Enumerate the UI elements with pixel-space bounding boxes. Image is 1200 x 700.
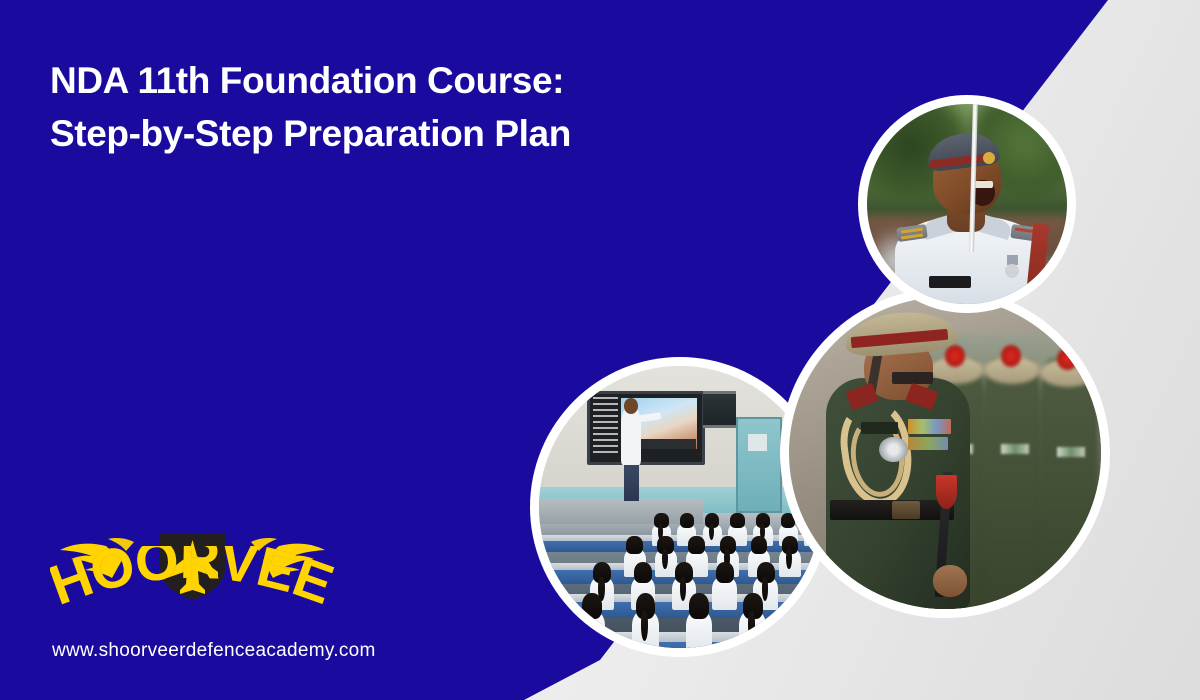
officer-medal-ribbons (908, 419, 952, 435)
officer-medal-ribbons-row2 (908, 437, 949, 449)
headline-line-2: Step-by-Step Preparation Plan (50, 108, 571, 161)
cadet-name-tag (929, 276, 971, 288)
cadet-scene (867, 104, 1067, 304)
classroom-window (703, 391, 737, 428)
officer-scene (789, 297, 1101, 609)
student-head (626, 536, 642, 554)
banner-root: NDA 11th Foundation Course: Step-by-Step… (0, 0, 1200, 700)
classroom-door (736, 417, 781, 513)
headline-line-1: NDA 11th Foundation Course: (50, 55, 571, 108)
red-plume (1057, 348, 1077, 370)
student-head (751, 536, 767, 554)
officer-medal-disc (879, 437, 907, 462)
svg-text:SHOORVEER: SHOORVEER (50, 546, 335, 617)
teacher-head (624, 398, 638, 414)
logo-wordmark-text: SHOORVEER (50, 546, 335, 617)
page-title: NDA 11th Foundation Course: Step-by-Step… (50, 55, 571, 160)
soldier-medal-ribbon (1001, 444, 1029, 454)
brand-logo[interactable]: SHOORVEER SHOORVEER (50, 520, 335, 625)
student-head (730, 513, 744, 528)
logo-mark: SHOORVEER SHOORVEER (50, 520, 335, 625)
cadet-medal (1005, 264, 1019, 278)
student-head (582, 593, 602, 619)
photo-classroom-students (530, 357, 830, 657)
officer-hand (933, 565, 967, 596)
photo-officer-inner (789, 297, 1101, 609)
teacher-legs (624, 462, 640, 501)
student-head (634, 562, 652, 583)
soldier-figure (982, 359, 1041, 609)
photo-officer-inspection (780, 288, 1110, 618)
student-head (716, 562, 734, 583)
photo-cadet-flagpole (858, 95, 1076, 313)
cadet-cap-badge (983, 152, 995, 164)
classroom-scene (539, 366, 821, 648)
photo-classroom-inner (539, 366, 821, 648)
officer-nameplate (861, 422, 898, 434)
soldier-medal-ribbon (1057, 447, 1085, 457)
soldier-figure (1039, 359, 1098, 609)
photo-cadet-inner (867, 104, 1067, 304)
logo-wordmark: SHOORVEER SHOORVEER (50, 546, 335, 618)
student-braid (662, 549, 668, 570)
officer-belt-buckle (892, 501, 920, 518)
blackboard-writing (593, 397, 618, 453)
cadet-teeth (973, 181, 993, 188)
student-head (680, 513, 694, 528)
door-glass-pane (748, 434, 768, 451)
student-braid (762, 577, 768, 602)
student-head (688, 536, 704, 554)
student-head (689, 593, 709, 619)
website-url[interactable]: www.shoorveerdefenceacademy.com (52, 640, 376, 662)
classroom-stage (539, 499, 703, 524)
